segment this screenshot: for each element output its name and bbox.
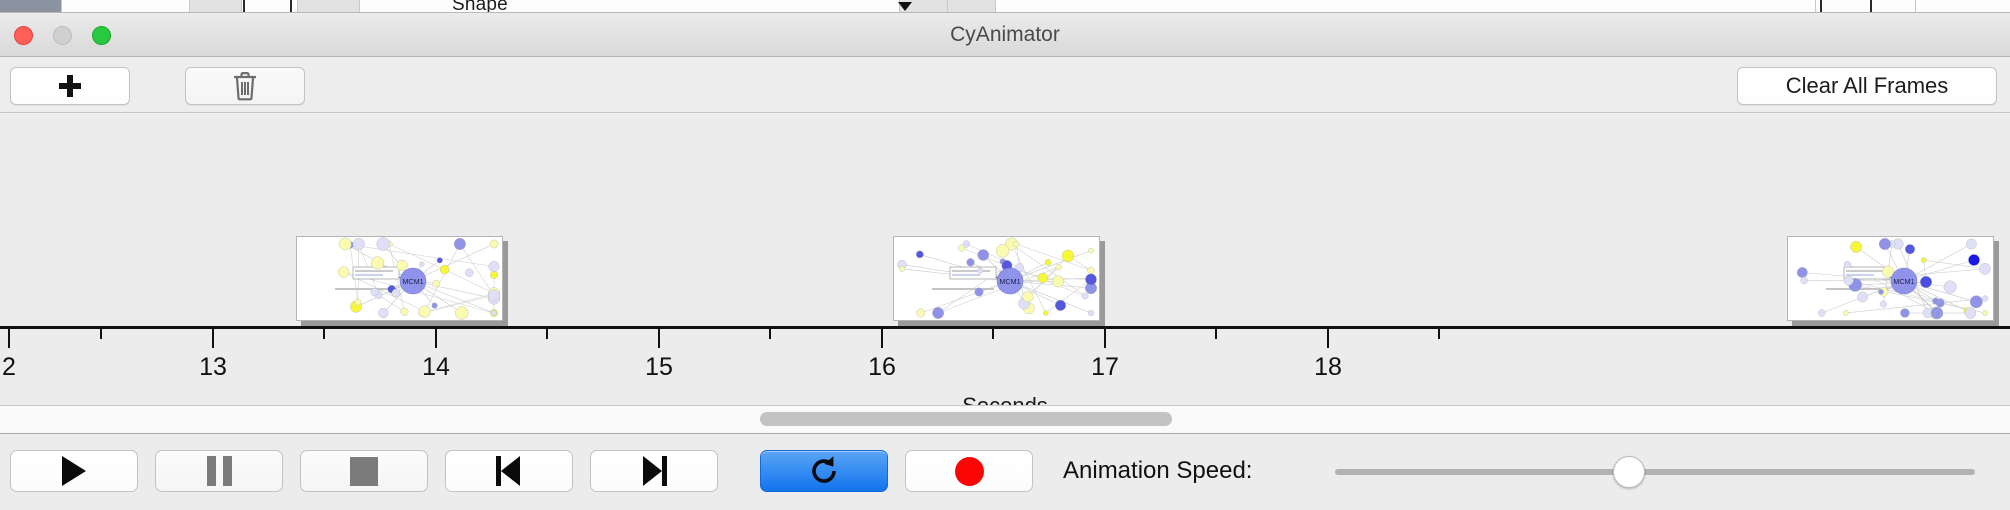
axis-tick [1104, 329, 1106, 348]
axis-tick-label: 16 [868, 353, 896, 382]
timeline-panel[interactable]: MCM1MCM1MCM1 2131415161718 Seconds [0, 113, 2010, 406]
axis-tick [8, 329, 10, 348]
axis-tick-label: 13 [199, 353, 227, 382]
skip-to-start-button[interactable] [445, 450, 573, 492]
title-bar: CyAnimator [0, 13, 2010, 57]
animation-speed-slider-thumb[interactable] [1613, 456, 1645, 488]
bg-seg [190, 0, 242, 13]
bg-seg [0, 0, 62, 13]
axis-tick [100, 329, 102, 339]
clear-all-frames-button[interactable]: Clear All Frames [1737, 67, 1997, 105]
animation-speed-label: Animation Speed: [1063, 450, 1252, 492]
timeline-scrollbar[interactable] [0, 406, 2010, 434]
svg-text:MCM1: MCM1 [402, 277, 423, 286]
delete-frame-button[interactable] [185, 67, 305, 105]
stop-icon [350, 457, 378, 486]
timeline-frame-thumbnail[interactable]: MCM1 [296, 236, 508, 324]
skip-back-icon [494, 456, 524, 486]
axis-tick [658, 329, 660, 348]
skip-to-end-button[interactable] [590, 450, 718, 492]
axis-tick [1327, 329, 1329, 348]
bg-shape-label: Shape [452, 0, 508, 13]
playback-bar: Animation Speed: [0, 435, 2010, 510]
axis-tick [1215, 329, 1217, 339]
bg-seg [948, 0, 996, 13]
axis-tick [323, 329, 325, 339]
timeline-frame-thumbnail[interactable]: MCM1 [893, 236, 1105, 324]
plus-icon [59, 75, 81, 97]
timeline-frame-thumbnail[interactable]: MCM1 [1787, 236, 1999, 324]
stop-button[interactable] [300, 450, 428, 492]
bg-seg [360, 0, 900, 13]
bg-tick [243, 0, 245, 13]
bg-marker-icon [898, 2, 912, 11]
bg-seg [996, 0, 1816, 13]
record-button[interactable] [905, 450, 1033, 492]
toolbar: Clear All Frames [0, 57, 2010, 113]
loop-icon [807, 454, 841, 488]
bg-seg [1916, 0, 2010, 13]
add-frame-button[interactable] [10, 67, 130, 105]
window-title: CyAnimator [0, 13, 2010, 57]
axis-tick [212, 329, 214, 348]
axis-tick [881, 329, 883, 348]
axis-tick [1438, 329, 1440, 339]
play-button[interactable] [10, 450, 138, 492]
bg-tick [1870, 0, 1872, 13]
frame-canvas: MCM1 [296, 236, 503, 321]
bg-tick [290, 0, 292, 13]
skip-forward-icon [639, 456, 669, 486]
axis-tick [992, 329, 994, 339]
animation-speed-slider[interactable] [1335, 469, 1975, 475]
axis-tick [435, 329, 437, 348]
pause-icon [207, 456, 232, 486]
svg-text:MCM1: MCM1 [1893, 277, 1914, 286]
bg-tick [1820, 0, 1822, 13]
play-icon [62, 456, 86, 486]
bg-seg [1816, 0, 1916, 13]
frame-canvas: MCM1 [893, 236, 1100, 321]
timeline-axis [0, 326, 2010, 329]
pause-button[interactable] [155, 450, 283, 492]
axis-caption: Seconds [0, 393, 2010, 406]
bg-seg [62, 0, 190, 13]
trash-icon [232, 71, 258, 101]
frame-canvas: MCM1 [1787, 236, 1994, 321]
axis-tick [769, 329, 771, 339]
background-window-strip: Shape [0, 0, 2010, 13]
axis-tick-label: 14 [422, 353, 450, 382]
record-icon [955, 457, 984, 486]
clear-all-frames-label: Clear All Frames [1786, 73, 1949, 99]
axis-tick-label: 15 [645, 353, 673, 382]
svg-text:MCM1: MCM1 [999, 277, 1020, 286]
axis-tick-label: 17 [1091, 353, 1119, 382]
axis-tick-label: 18 [1314, 353, 1342, 382]
timeline-scrollbar-thumb[interactable] [760, 412, 1172, 426]
axis-tick [546, 329, 548, 339]
loop-button[interactable] [760, 450, 888, 492]
axis-tick-label: 2 [2, 353, 16, 382]
bg-seg [298, 0, 360, 13]
